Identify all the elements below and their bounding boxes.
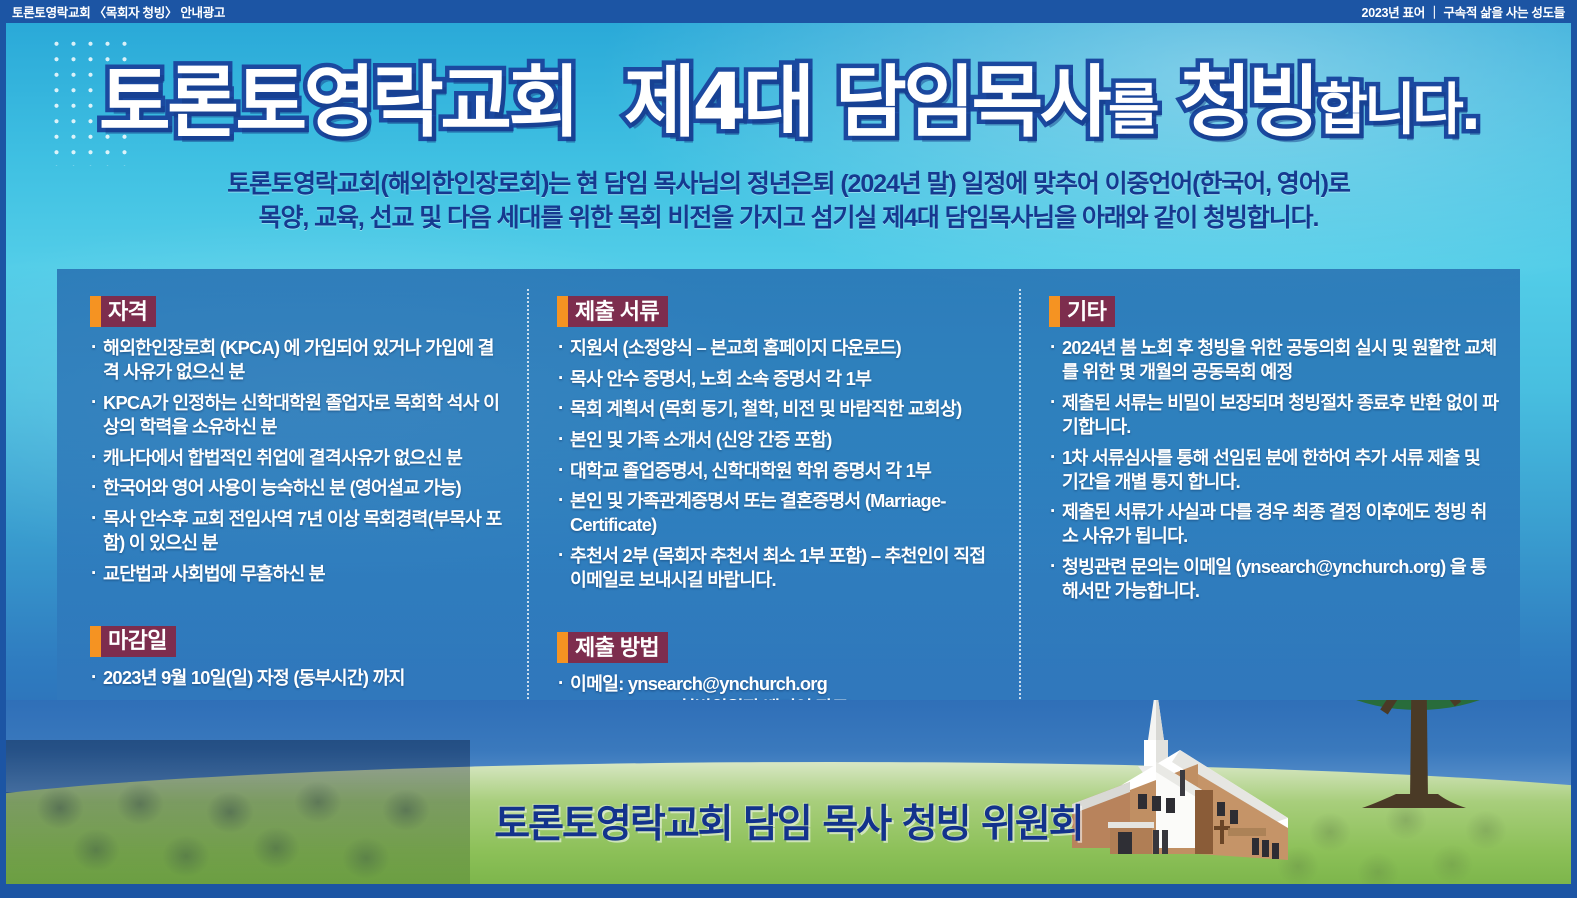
badge-label: 기타 xyxy=(1060,296,1115,327)
list-item: 1차 서류심사를 통해 선임된 분에 한하여 추가 서류 제출 및 기간을 개별… xyxy=(1049,446,1500,494)
list-item: 제출된 서류가 사실과 다를 경우 최종 결정 이후에도 청빙 취소 사유가 됩… xyxy=(1049,500,1500,548)
title-part-ordinal: 제4대 xyxy=(624,58,811,148)
top-bar-left-label: 토론토영락교회 〈목회자 청빙〉 안내광고 xyxy=(12,2,225,21)
section-badge-deadline: 마감일 xyxy=(90,626,176,657)
section-badge-documents: 제출 서류 xyxy=(557,296,668,327)
list-item: 대학교 졸업증명서, 신학대학원 학위 증명서 각 1부 xyxy=(557,459,1001,483)
hero-title-container: 토론토영락교회 제4대 담임목사를 청빙합니다. xyxy=(0,50,1577,155)
church-building-icon xyxy=(1052,700,1382,878)
title-part-call: 청빙 xyxy=(1180,58,1317,148)
title-part-particle: 를 xyxy=(1108,78,1156,143)
badge-label: 제출 방법 xyxy=(568,632,668,663)
column-qualifications: 자격 해외한인장로회 (KPCA) 에 가입되어 있거나 가입에 결격 사유가 … xyxy=(57,269,527,756)
hero-subtitle: 토론토영락교회(해외한인장로회)는 현 담임 목사님의 정년은퇴 (2024년 … xyxy=(0,168,1577,235)
section-badge-submission-method: 제출 방법 xyxy=(557,632,668,663)
list-item: 지원서 (소정양식 – 본교회 홈페이지 다운로드) xyxy=(557,336,1001,360)
list-item: 목사 안수후 교회 전임사역 7년 이상 목회경력(부목사 포함) 이 있으신 … xyxy=(90,507,509,555)
email-line[interactable]: 이메일: ynsearch@ynchurch.org xyxy=(570,673,827,694)
list-item: 2024년 봄 노회 후 청빙을 위한 공동의회 실시 및 원활한 교체를 위한… xyxy=(1049,336,1500,384)
list-item: KPCA가 인정하는 신학대학원 졸업자로 목회학 석사 이상의 학력을 소유하… xyxy=(90,391,509,439)
subtitle-line-2: 목양, 교육, 선교 및 다음 세대를 위한 목회 비전을 가지고 섬기실 제4… xyxy=(0,202,1577,236)
title-part-suffix: 합니다. xyxy=(1316,78,1478,143)
list-item: 추천서 2부 (목회자 추천서 최소 1부 포함) – 추천인이 직접 이메일로… xyxy=(557,544,1001,592)
section-badge-other: 기타 xyxy=(1049,296,1115,327)
list-item: 제출된 서류는 비밀이 보장되며 청빙절차 종료후 반환 없이 파기합니다. xyxy=(1049,391,1500,439)
list-item: 한국어와 영어 사용이 능숙하신 분 (영어설교 가능) xyxy=(90,476,509,500)
deadline-block: 마감일 2023년 9월 10일(일) 자정 (동부시간) 까지 xyxy=(90,626,509,690)
section-badge-qualifications: 자격 xyxy=(90,296,156,327)
documents-list: 지원서 (소정양식 – 본교회 홈페이지 다운로드) 목사 안수 증명서, 노회… xyxy=(557,336,1001,592)
list-item: 교단법과 사회법에 무흠하신 분 xyxy=(90,562,509,586)
title-part-role: 담임목사 xyxy=(835,58,1108,148)
badge-label: 마감일 xyxy=(101,626,176,657)
footer-committee-name: 토론토영락교회 담임 목사 청빙 위원회 xyxy=(0,793,1577,849)
badge-label: 제출 서류 xyxy=(568,296,668,327)
list-item: 본인 및 가족 소개서 (신앙 간증 포함) xyxy=(557,428,1001,452)
top-bar-right-label: 2023년 표어 ｜ 구속적 삶을 사는 성도들 xyxy=(1362,2,1565,21)
top-bar: 토론토영락교회 〈목회자 청빙〉 안내광고 2023년 표어 ｜ 구속적 삶을 … xyxy=(0,0,1577,23)
badge-accent-bar xyxy=(90,296,101,327)
badge-accent-bar xyxy=(1049,296,1060,327)
badge-label: 자격 xyxy=(101,296,156,327)
badge-accent-bar xyxy=(557,296,568,327)
title-part-church: 토론토영락교회 xyxy=(99,58,577,148)
list-item: 해외한인장로회 (KPCA) 에 가입되어 있거나 가입에 결격 사유가 없으신… xyxy=(90,336,509,384)
bottom-border-strip xyxy=(0,884,1577,898)
page-title: 토론토영락교회 제4대 담임목사를 청빙합니다. xyxy=(99,64,1478,142)
other-list: 2024년 봄 노회 후 청빙을 위한 공동의회 실시 및 원활한 교체를 위한… xyxy=(1049,336,1500,603)
poster-root: 토론토영락교회 〈목회자 청빙〉 안내광고 2023년 표어 ｜ 구속적 삶을 … xyxy=(0,0,1577,898)
list-item: 2023년 9월 10일(일) 자정 (동부시간) 까지 xyxy=(90,666,509,690)
column-documents: 제출 서류 지원서 (소정양식 – 본교회 홈페이지 다운로드) 목사 안수 증… xyxy=(527,269,1019,756)
list-item: 목회 계획서 (목회 동기, 철학, 비전 및 바람직한 교회상) xyxy=(557,397,1001,421)
badge-accent-bar xyxy=(90,626,101,657)
list-item: 캐나다에서 합법적인 취업에 결격사유가 없으신 분 xyxy=(90,446,509,470)
qualifications-list: 해외한인장로회 (KPCA) 에 가입되어 있거나 가입에 결격 사유가 없으신… xyxy=(90,336,509,586)
list-item: 청빙관련 문의는 이메일 (ynsearch@ynchurch.org) 을 통… xyxy=(1049,555,1500,603)
list-item: 본인 및 가족관계증명서 또는 결혼증명서 (Marriage-Certific… xyxy=(557,489,1001,537)
deadline-list: 2023년 9월 10일(일) 자정 (동부시간) 까지 xyxy=(90,666,509,690)
badge-accent-bar xyxy=(557,632,568,663)
subtitle-line-1: 토론토영락교회(해외한인장로회)는 현 담임 목사님의 정년은퇴 (2024년 … xyxy=(0,168,1577,202)
list-item: 목사 안수 증명서, 노회 소속 증명서 각 1부 xyxy=(557,367,1001,391)
content-panel: 자격 해외한인장로회 (KPCA) 에 가입되어 있거나 가입에 결격 사유가 … xyxy=(57,269,1520,756)
column-other: 기타 2024년 봄 노회 후 청빙을 위한 공동의회 실시 및 원활한 교체를… xyxy=(1019,269,1520,756)
